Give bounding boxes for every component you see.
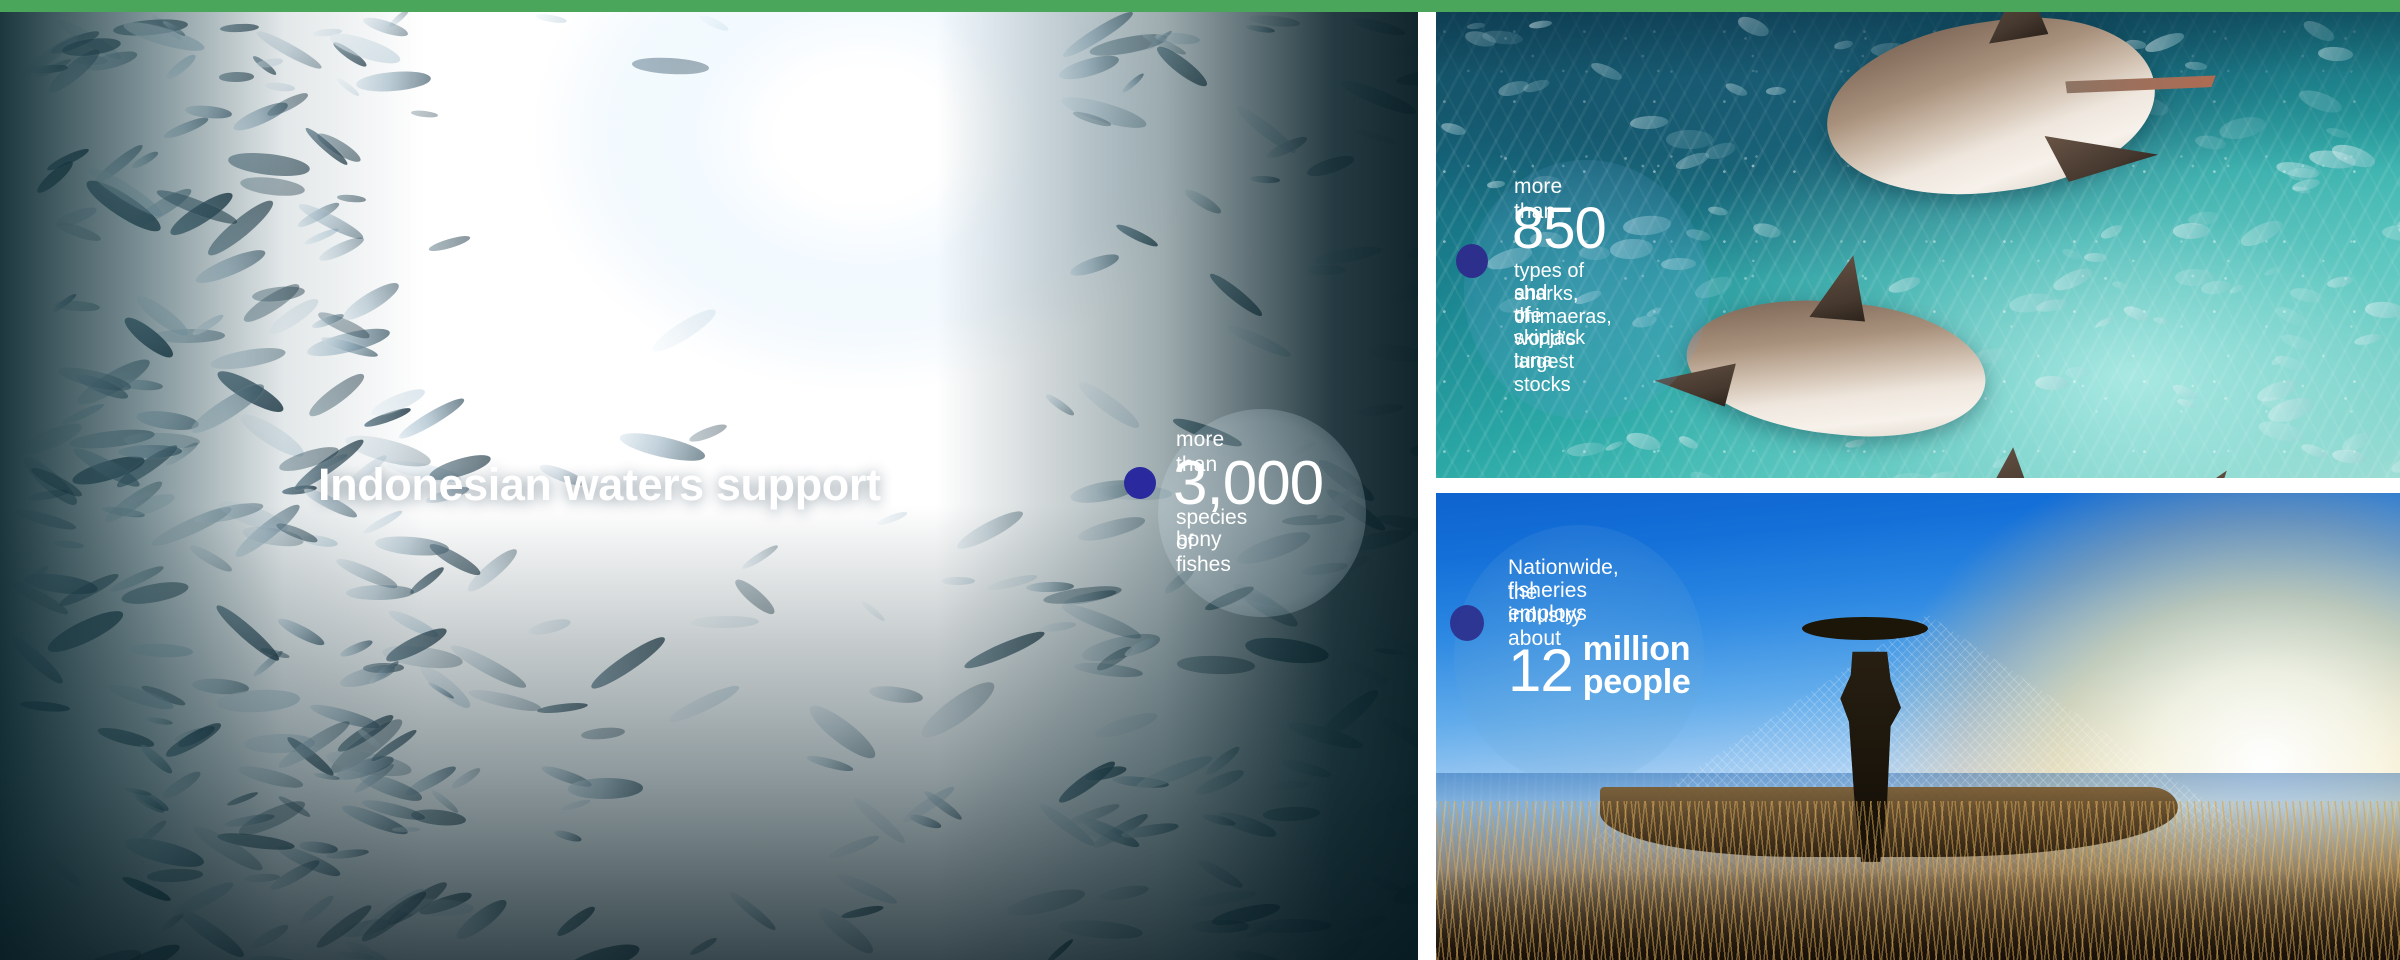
background-fish-shape — [2264, 265, 2282, 277]
callout-number: 850 — [1512, 200, 1606, 258]
background-fish-shape — [1674, 149, 1710, 172]
background-fish-shape — [2300, 442, 2329, 461]
background-fish-shape — [2218, 113, 2268, 142]
background-fish-shape — [1605, 439, 1624, 451]
background-fish-shape — [2273, 352, 2308, 374]
background-fish-shape — [1736, 13, 1772, 40]
background-fish-shape — [2331, 448, 2366, 465]
background-fish-shape — [1752, 221, 1782, 240]
background-fish-shape — [2229, 283, 2246, 295]
background-fish-shape — [1528, 19, 1552, 29]
background-fish-shape — [1845, 438, 1867, 449]
background-fish-shape — [2111, 280, 2128, 291]
background-fish-shape — [1889, 473, 1934, 478]
callout-dot-icon — [1450, 605, 1484, 641]
background-fish-shape — [2121, 304, 2150, 324]
background-fish-shape — [2173, 223, 2209, 239]
background-fish-shape — [2326, 275, 2353, 290]
callout-unit-line2: people — [1583, 666, 1691, 699]
background-fish-shape — [2153, 316, 2170, 326]
background-fish-shape — [2297, 86, 2345, 117]
background-fish-shape — [1566, 441, 1605, 459]
background-fish-shape — [1440, 121, 1466, 137]
background-fish-shape — [2273, 303, 2307, 329]
background-fish-shape — [1624, 430, 1662, 454]
callout-number-row: 12 million people — [1508, 633, 1691, 699]
panel-fish-school: Indonesian waters support more than 3,00… — [0, 12, 1418, 960]
background-fish-shape — [2301, 17, 2337, 45]
background-fish-shape — [2389, 448, 2400, 475]
background-fish-shape — [2034, 375, 2068, 390]
background-fish-shape — [1677, 434, 1700, 452]
callout-number: 12 — [1508, 643, 1573, 699]
background-fish-shape — [2279, 331, 2318, 355]
background-fish-shape — [2050, 264, 2094, 294]
background-fish-shape — [2364, 301, 2400, 319]
background-fish-shape — [1467, 22, 1486, 30]
background-fish-shape — [1887, 274, 1922, 295]
background-fish-shape — [2184, 61, 2206, 71]
top-accent-bar — [0, 0, 2400, 12]
background-fish-shape — [1725, 81, 1749, 98]
fisherman-hat — [1802, 617, 1927, 640]
background-fish-shape — [1688, 467, 1726, 478]
background-fish-shape — [2353, 332, 2382, 347]
infographic-root: Indonesian waters support more than 3,00… — [0, 0, 2400, 960]
panel-fisherman: Nationwide, the fisheries industry emplo… — [1436, 493, 2400, 960]
callout-sub-line3: of skipjack tuna — [1514, 304, 1585, 373]
background-fish-shape — [2318, 46, 2354, 62]
callout-dot-icon — [1124, 467, 1156, 499]
background-fish-shape — [1589, 60, 1624, 83]
panel-sharks: more than 850 types of sharks, chimaeras… — [1436, 12, 2400, 478]
callout-unit: million people — [1583, 633, 1691, 699]
callout-sub-line2: bony fishes — [1176, 527, 1231, 577]
background-fish-shape — [2238, 216, 2286, 251]
background-fish-shape — [2325, 126, 2350, 140]
background-fish-shape — [1522, 78, 1551, 96]
page-title: Indonesian waters support — [318, 459, 881, 511]
reeds-foreground — [1436, 801, 2400, 960]
background-fish-shape — [2065, 367, 2090, 378]
background-fish-shape — [1666, 129, 1713, 148]
background-fish-shape — [1707, 205, 1728, 217]
background-fish-shape — [2096, 316, 2115, 329]
background-fish-shape — [2061, 247, 2081, 261]
background-fish-shape — [2099, 223, 2124, 241]
background-fish-shape — [1629, 115, 1668, 130]
background-fish-shape — [1487, 180, 1505, 189]
background-fish-shape — [1766, 86, 1787, 95]
background-fish-shape — [1929, 470, 1956, 478]
background-fish-shape — [2289, 285, 2324, 305]
callout-dot-icon — [1456, 244, 1488, 278]
callout-unit-line1: million — [1583, 633, 1691, 666]
background-fish-shape — [2084, 252, 2108, 262]
